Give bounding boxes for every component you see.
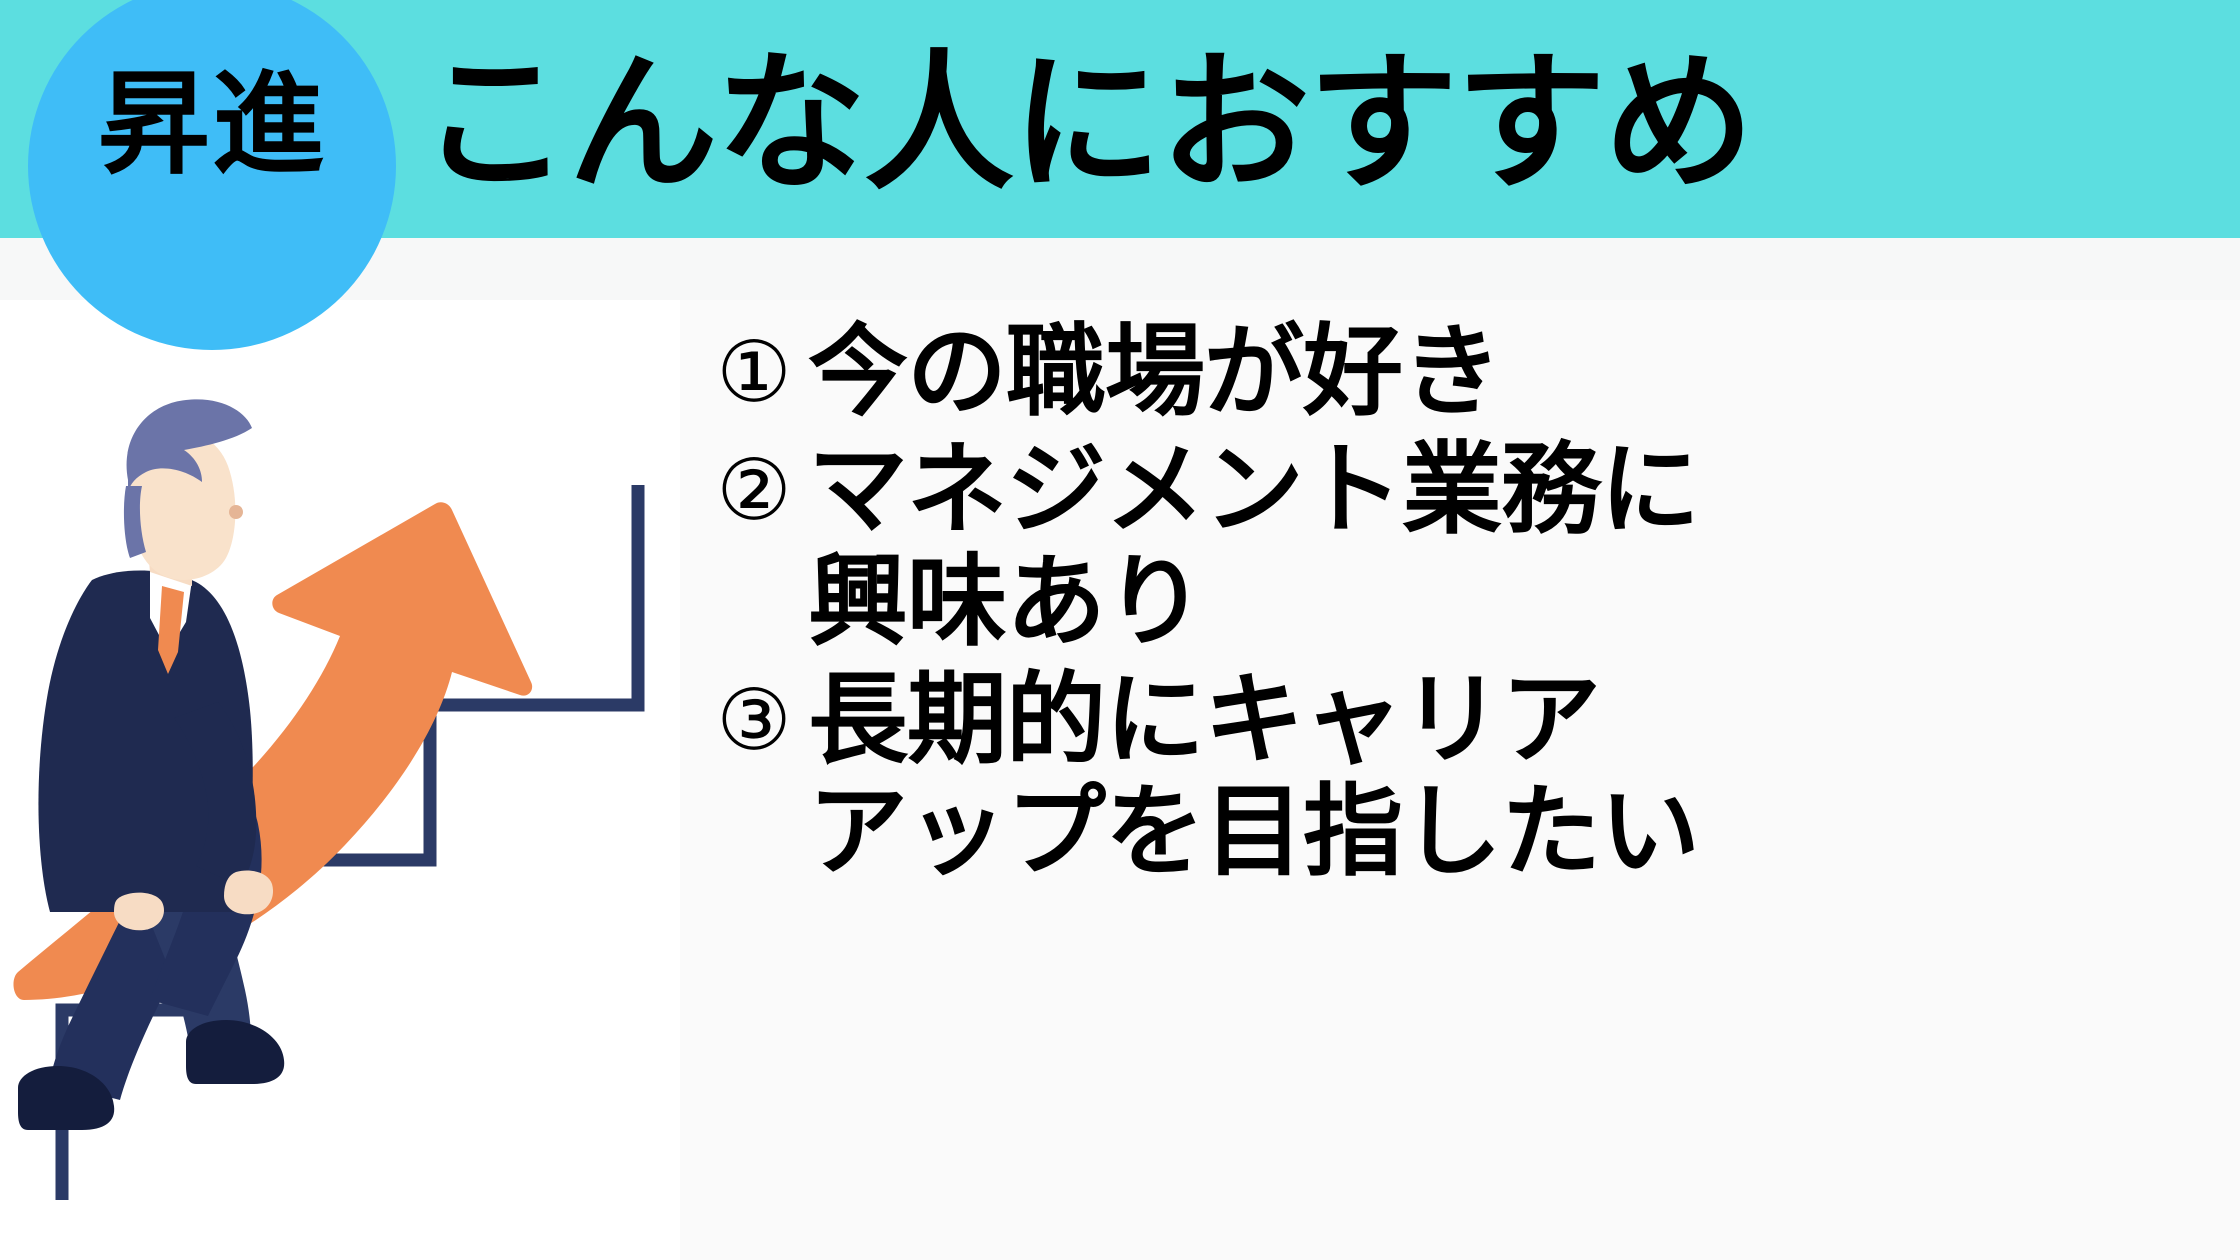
recommendation-list: ① 今の職場が好き ② マネジメント業務に 興味あり ③ 長期的にキャリア アッ…	[700, 316, 2240, 1246]
list-marker-2: ②	[700, 434, 808, 546]
list-text-1: 今の職場が好き	[808, 316, 2240, 428]
list-item: ② マネジメント業務に 興味あり	[700, 434, 2240, 658]
list-line: 今の職場が好き	[808, 316, 2240, 428]
list-item: ③ 長期的にキャリア アップを目指したい	[700, 664, 2240, 888]
list-marker-1: ①	[700, 316, 808, 428]
page-title: こんな人におすすめ	[420, 34, 2220, 214]
list-line: アップを目指したい	[808, 776, 2240, 888]
slide-canvas: 昇進 こんな人におすすめ	[0, 0, 2240, 1260]
list-line: マネジメント業務に	[808, 434, 2240, 546]
list-item: ① 今の職場が好き	[700, 316, 2240, 428]
list-line: 長期的にキャリア	[808, 664, 2240, 776]
illustration	[0, 300, 690, 1260]
badge-label: 昇進	[28, 55, 396, 195]
list-text-3: 長期的にキャリア アップを目指したい	[808, 664, 2240, 888]
list-text-2: マネジメント業務に 興味あり	[808, 434, 2240, 658]
list-line: 興味あり	[808, 546, 2240, 658]
list-marker-3: ③	[700, 664, 808, 776]
